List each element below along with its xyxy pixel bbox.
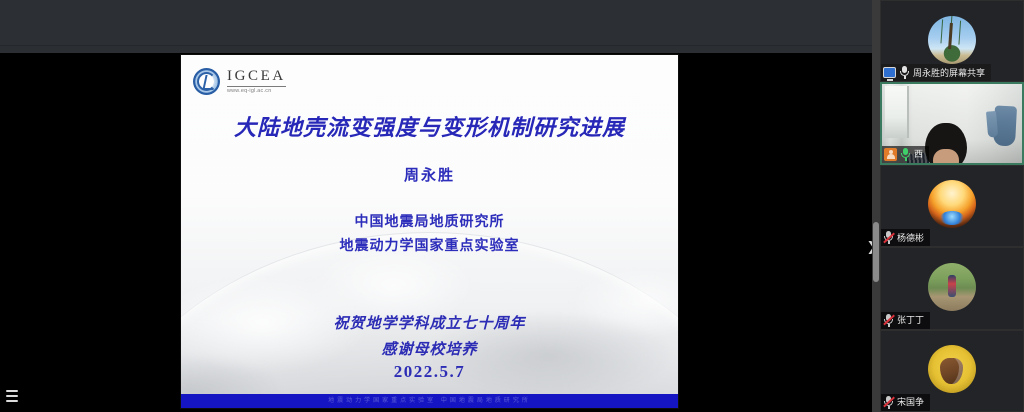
- meeting-screen-share-view: IGCEA www.eq-igl.ac.cn 大陆地壳流变强度与变形机制研究进展…: [0, 0, 1024, 412]
- participant-name: 杨德彬: [897, 232, 924, 244]
- participant-name: 西: [914, 148, 923, 160]
- microphone-muted-icon: [883, 314, 894, 327]
- shared-screen-stage: IGCEA www.eq-igl.ac.cn 大陆地壳流变强度与变形机制研究进展…: [0, 53, 880, 412]
- participant-name: 周永胜的屏幕共享: [913, 67, 985, 79]
- window-chrome-band: [0, 0, 880, 53]
- person-icon: [884, 148, 897, 161]
- window-chrome-toolbar: [0, 0, 880, 46]
- participant-name-badge: 西: [882, 146, 929, 163]
- webcam-hanging-cloth: [993, 106, 1017, 147]
- participant-name: 张丁丁: [897, 314, 924, 326]
- logo-acronym: IGCEA: [227, 69, 286, 87]
- participant-name-badge: 周永胜的屏幕共享: [881, 64, 991, 81]
- screen-share-icon: [883, 67, 896, 78]
- menu-icon[interactable]: [4, 385, 21, 406]
- slide-title: 大陆地壳流变强度与变形机制研究进展: [181, 110, 678, 142]
- slide-content: IGCEA www.eq-igl.ac.cn 大陆地壳流变强度与变形机制研究进展…: [181, 55, 678, 408]
- slide-date: 2022.5.7: [181, 362, 678, 382]
- participant-name-badge: 宋国争: [881, 394, 930, 411]
- avatar: [928, 180, 976, 228]
- greeting-line-2: 感谢母校培养: [181, 336, 678, 362]
- greeting-line-1: 祝贺地学学科成立七十周年: [181, 310, 678, 336]
- microphone-muted-icon: [883, 396, 894, 409]
- slide-author: 周永胜: [181, 164, 678, 185]
- participant-tile-active-speaker[interactable]: 西: [880, 82, 1024, 164]
- participant-name: 宋国争: [897, 396, 924, 408]
- affiliation-line-2: 地震动力学国家重点实验室: [181, 234, 678, 258]
- webcam-person-head: [925, 123, 967, 165]
- microphone-icon: [899, 66, 910, 79]
- participant-tile-3[interactable]: 杨德彬: [880, 165, 1024, 247]
- filmstrip-scrollbar[interactable]: [872, 0, 880, 412]
- webcam-window: [885, 86, 909, 138]
- participant-tile-4[interactable]: 张丁丁: [880, 247, 1024, 329]
- participant-name-badge: 杨德彬: [881, 229, 930, 246]
- affiliation-line-1: 中国地震局地质研究所: [181, 210, 678, 234]
- institute-logo: IGCEA www.eq-igl.ac.cn: [193, 68, 286, 95]
- microphone-icon: [900, 148, 911, 161]
- filmstrip-scrollbar-thumb[interactable]: [873, 222, 879, 282]
- presentation-slide: IGCEA www.eq-igl.ac.cn 大陆地壳流变强度与变形机制研究进展…: [181, 55, 678, 408]
- igcea-emblem-icon: [193, 68, 220, 95]
- logo-text-block: IGCEA www.eq-igl.ac.cn: [227, 69, 286, 94]
- participant-tile-screen-share[interactable]: 周永胜的屏幕共享: [880, 0, 1024, 82]
- avatar: [928, 345, 976, 393]
- avatar: [928, 16, 976, 64]
- slide-footer-bar: 地震动力学国家重点实验室 中国地震局地质研究所: [181, 394, 678, 408]
- microphone-muted-icon: [883, 231, 894, 244]
- slide-affiliation: 中国地震局地质研究所 地震动力学国家重点实验室: [181, 210, 678, 258]
- slide-greeting: 祝贺地学学科成立七十周年 感谢母校培养: [181, 310, 678, 362]
- participant-tile-5[interactable]: 宋国争: [880, 330, 1024, 412]
- participant-name-badge: 张丁丁: [881, 312, 930, 329]
- logo-url: www.eq-igl.ac.cn: [227, 89, 286, 94]
- participants-filmstrip: 周永胜的屏幕共享 西: [880, 0, 1024, 412]
- avatar: [928, 263, 976, 311]
